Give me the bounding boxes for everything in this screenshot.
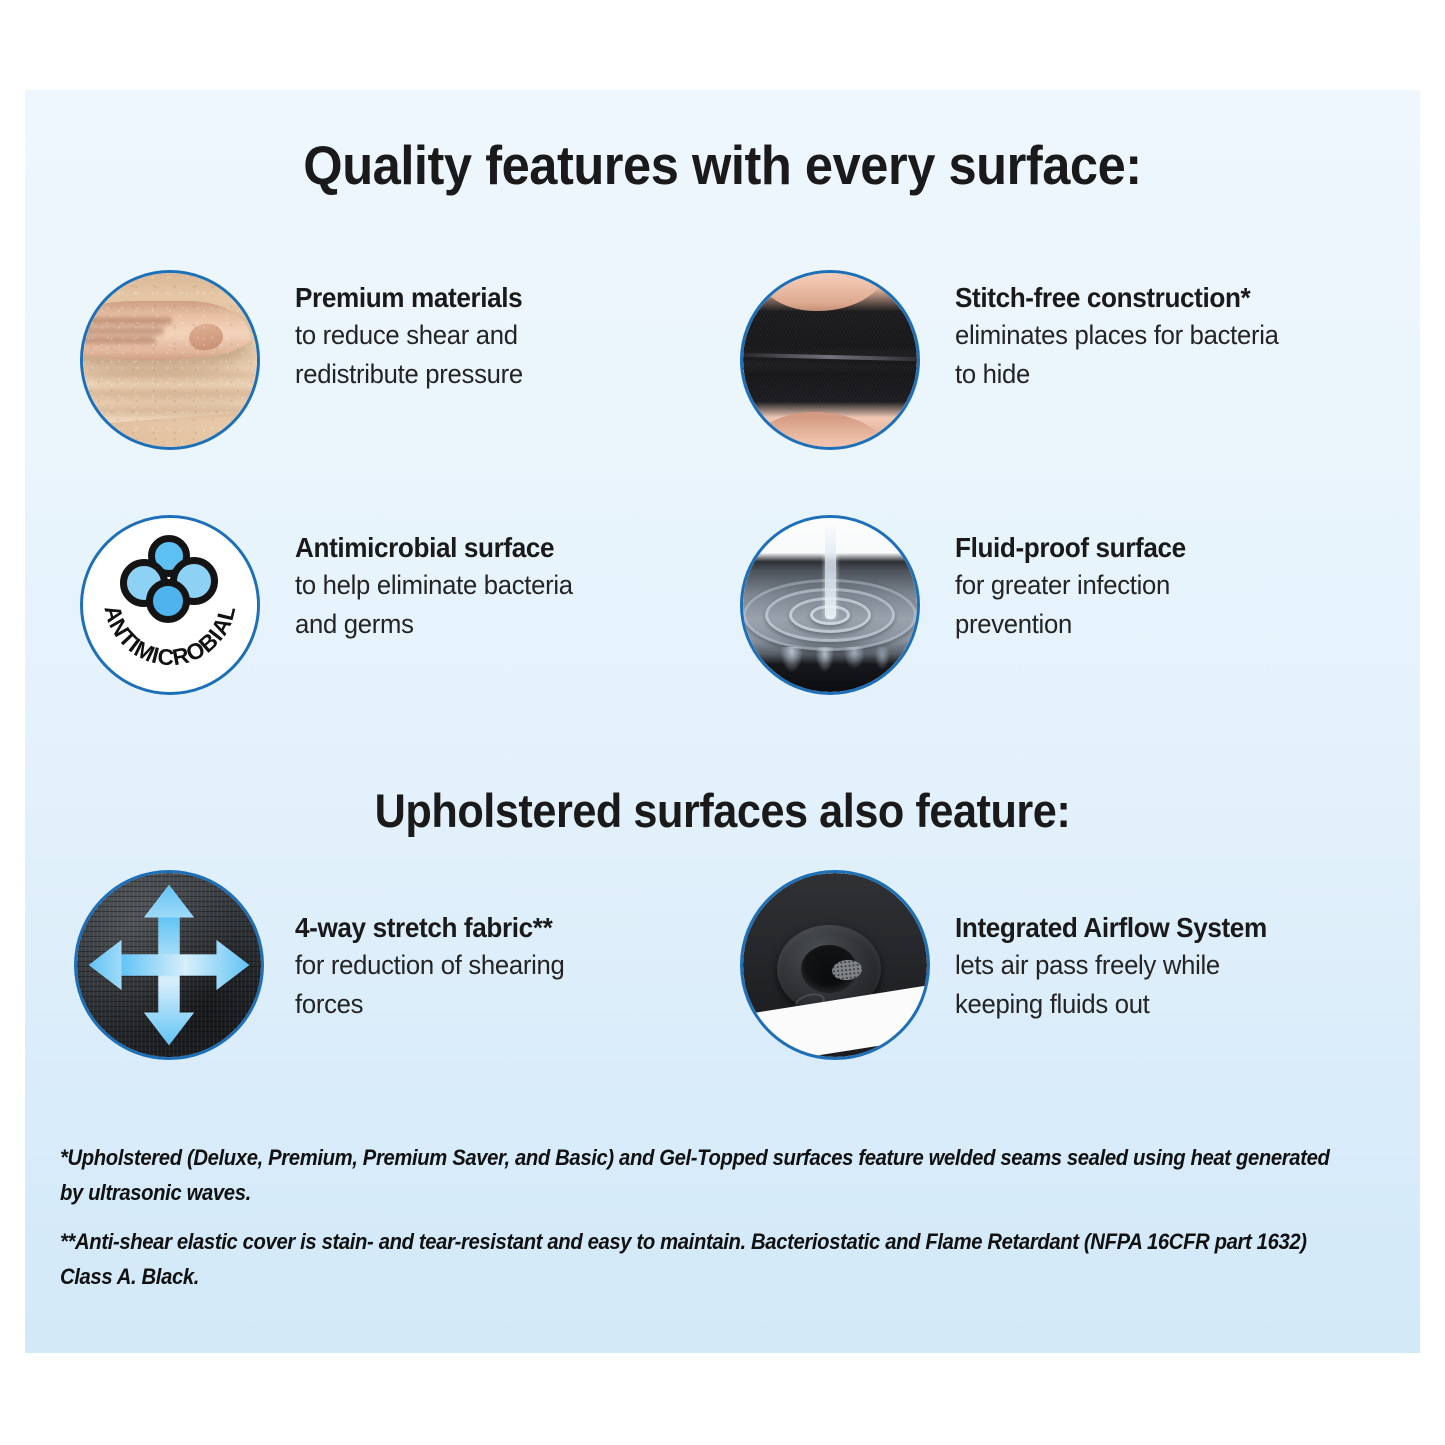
feature-body-line: for greater infection	[955, 566, 1354, 605]
feature-body-line: and germs	[295, 605, 694, 644]
footnote-single-asterisk: *Upholstered (Deluxe, Premium, Premium S…	[60, 1140, 1356, 1210]
water-stream-ripple-photo	[740, 515, 920, 695]
feature-body-line: lets air pass freely while	[955, 946, 1354, 985]
feature-body-line: keeping fluids out	[955, 985, 1354, 1024]
hand-pressing-memory-foam-photo	[80, 270, 260, 450]
section-title-upholstered: Upholstered surfaces also feature:	[58, 783, 1387, 838]
feature-title: Stitch-free construction*	[955, 280, 1354, 316]
feature-title: 4-way stretch fabric**	[295, 910, 694, 946]
feature-body-line: to reduce shear and	[295, 316, 694, 355]
feature-body-line: forces	[295, 985, 694, 1024]
svg-text:ANTIMICROBIAL: ANTIMICROBIAL	[99, 602, 240, 670]
feature-title: Antimicrobial surface	[295, 530, 694, 566]
fingers-pinching-welded-seam-photo	[740, 270, 920, 450]
footnotes: *Upholstered (Deluxe, Premium, Premium S…	[60, 1140, 1360, 1308]
infographic-page: Quality features with every surface:	[0, 0, 1445, 1445]
antimicrobial-curved-label: ANTIMICROBIAL	[83, 518, 257, 692]
feature-body-line: to hide	[955, 355, 1354, 394]
antimicrobial-badge-icon: ANTIMICROBIAL	[80, 515, 260, 695]
four-way-arrow-glyph	[77, 873, 261, 1057]
feature-body-line: for reduction of shearing	[295, 946, 694, 985]
feature-title: Integrated Airflow System	[955, 910, 1354, 946]
airflow-grommet-vent-photo	[740, 870, 930, 1060]
feature-body-line: to help eliminate bacteria	[295, 566, 694, 605]
feature-body-line: prevention	[955, 605, 1354, 644]
feature-body-line: eliminates places for bacteria	[955, 316, 1354, 355]
footnote-double-asterisk: **Anti-shear elastic cover is stain- and…	[60, 1224, 1356, 1294]
feature-title: Premium materials	[295, 280, 694, 316]
page-title: Quality features with every surface:	[58, 133, 1387, 197]
four-way-arrow-cross-icon	[74, 870, 264, 1060]
antimicrobial-label-text: ANTIMICROBIAL	[99, 602, 240, 670]
feature-body-line: redistribute pressure	[295, 355, 694, 394]
feature-title: Fluid-proof surface	[955, 530, 1354, 566]
